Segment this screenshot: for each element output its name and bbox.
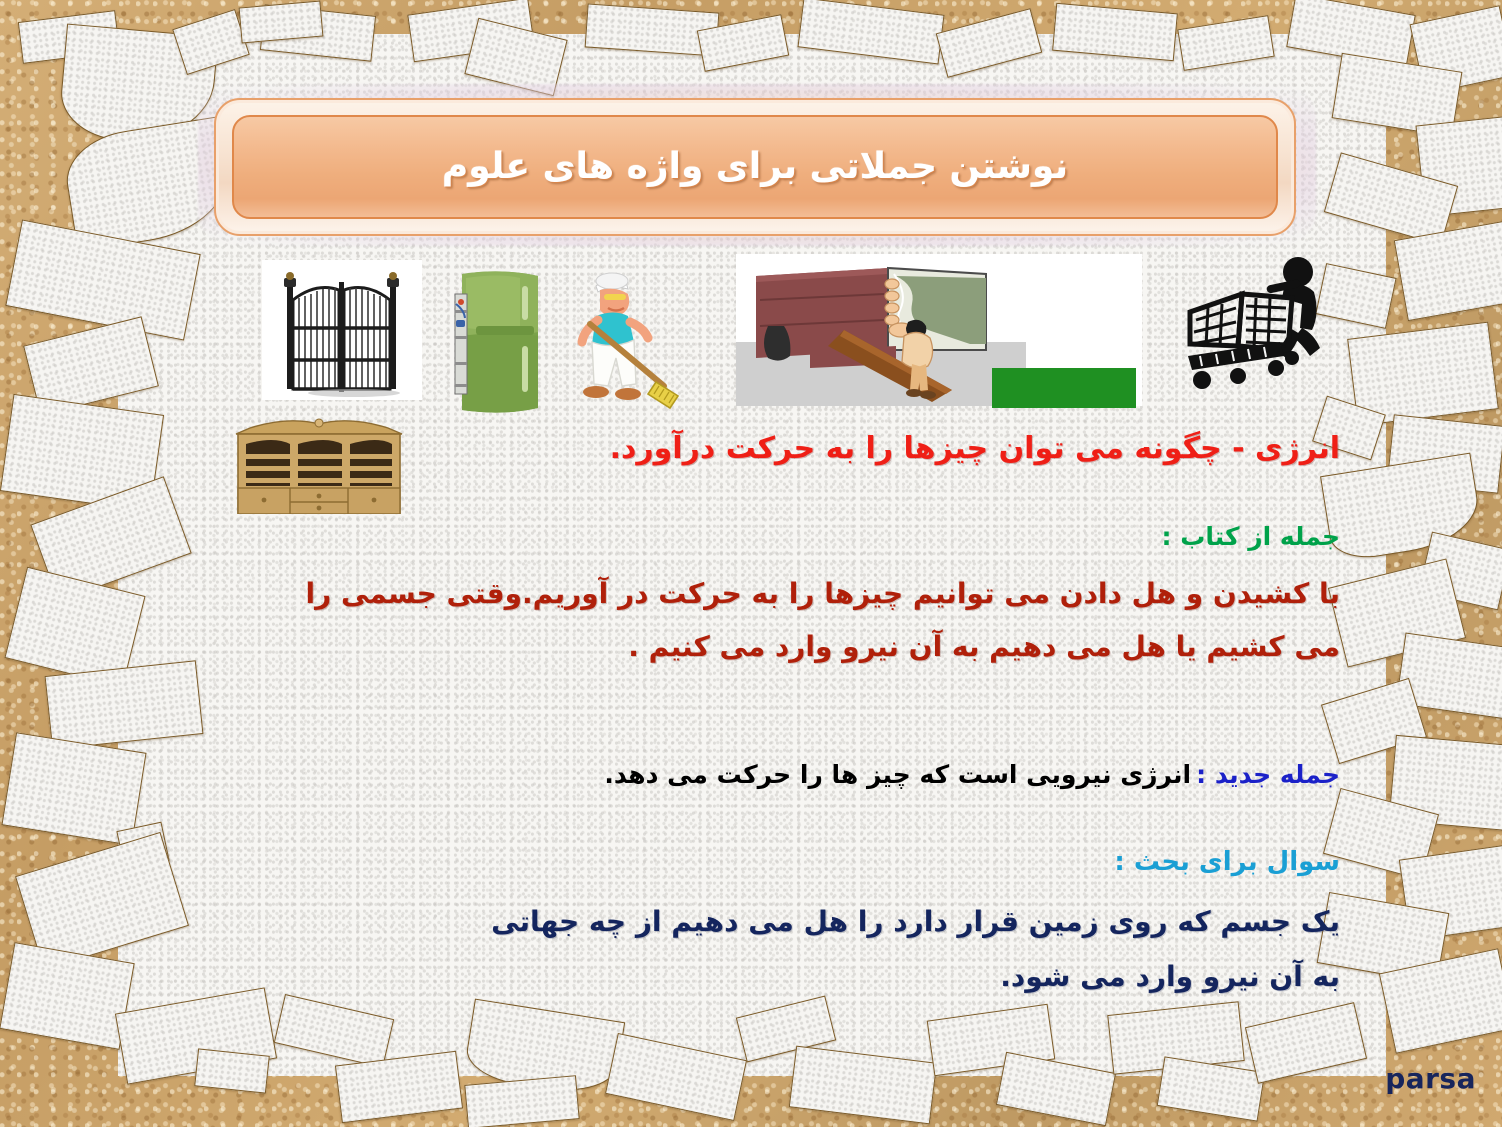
title-banner: نوشتن جملاتی برای واژه های علوم: [232, 115, 1278, 219]
person-sweeping-image: [560, 262, 690, 414]
paper-scrap: [239, 0, 324, 43]
book-sentence-line-1: با کشیدن و هل دادن می توانیم چیزها را به…: [120, 575, 1340, 614]
truck-ramp-icon: [736, 268, 1026, 406]
refrigerator-icon: [455, 271, 538, 412]
person-sweeping-icon: [582, 273, 678, 408]
person-pushing-cart-image: [1180, 250, 1340, 402]
author-signature: parsa: [1385, 1062, 1476, 1095]
paper-scrap: [194, 1048, 270, 1093]
slide-title: نوشتن جملاتی برای واژه های علوم: [442, 149, 1068, 185]
discussion-question-line-1: یک جسم که روی زمین قرار دارد را هل می ده…: [210, 903, 1340, 942]
gate-image: [262, 260, 422, 400]
slide-canvas: نوشتن جملاتی برای واژه های علوم: [0, 0, 1502, 1127]
new-sentence-text: انرژی نیرویی است که چیز ها را حرکت می ده…: [604, 760, 1191, 789]
paper-scrap: [45, 660, 204, 749]
discussion-question-label: سوال برای بحث :: [400, 845, 1340, 881]
person-pushing-cart-icon: [1188, 257, 1320, 389]
book-sentence-label: جمله از کتاب :: [400, 520, 1340, 555]
headline-text: انرژی - چگونه می توان چیزها را به حرکت د…: [400, 428, 1340, 469]
cabinet-image: [228, 418, 410, 514]
paper-scrap: [464, 1075, 579, 1127]
green-block-image: [992, 368, 1136, 408]
new-sentence-row: جمله جدید : انرژی نیرویی است که چیز ها ر…: [260, 760, 1340, 789]
gate-icon: [284, 272, 400, 397]
refrigerator-image: [440, 266, 562, 416]
cabinet-icon: [236, 419, 402, 514]
new-sentence-label: جمله جدید :: [1196, 760, 1340, 789]
book-sentence-line-2: می کشیم یا هل می دهیم به آن نیرو وارد می…: [120, 628, 1340, 667]
discussion-question-line-2: به آن نیرو وارد می شود.: [210, 958, 1340, 997]
